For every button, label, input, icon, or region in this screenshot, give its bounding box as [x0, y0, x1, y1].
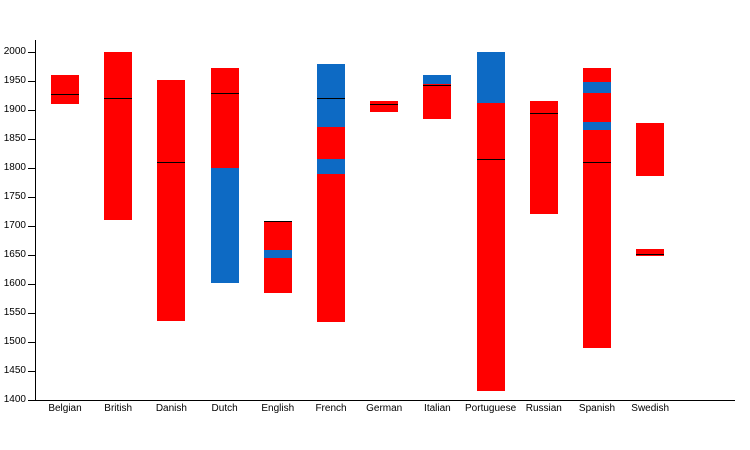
bar-segment[interactable] — [317, 127, 345, 159]
bar-segment[interactable] — [636, 123, 664, 175]
bar-group-french[interactable] — [317, 0, 345, 450]
bar-group-italian[interactable] — [423, 0, 451, 450]
bar-median-line — [636, 254, 664, 255]
bar-median-line — [51, 94, 79, 95]
y-axis-tick-label: 1600 — [0, 279, 26, 289]
bar-median-line — [583, 162, 611, 163]
bar-median-line — [370, 104, 398, 105]
y-axis-tick — [28, 400, 36, 401]
bar-segment[interactable] — [477, 103, 505, 391]
bar-group-portuguese[interactable] — [477, 0, 505, 450]
bar-segment[interactable] — [317, 174, 345, 322]
bar-segment[interactable] — [583, 68, 611, 83]
bar-group-spanish[interactable] — [583, 0, 611, 450]
bar-segment[interactable] — [583, 122, 611, 131]
bar-segment[interactable] — [317, 64, 345, 128]
y-axis-tick-label: 1650 — [0, 250, 26, 260]
bar-group-danish[interactable] — [157, 0, 185, 450]
y-axis-tick-label: 1400 — [0, 395, 26, 405]
bar-median-line — [157, 162, 185, 163]
bar-segment[interactable] — [583, 82, 611, 92]
bar-segment[interactable] — [423, 75, 451, 84]
bar-group-russian[interactable] — [530, 0, 558, 450]
bar-median-line — [104, 98, 132, 99]
bar-group-english[interactable] — [264, 0, 292, 450]
bar-median-line — [211, 93, 239, 94]
bar-segment[interactable] — [264, 221, 292, 250]
bar-group-swedish[interactable] — [636, 0, 664, 450]
y-axis-tick-label: 2000 — [0, 47, 26, 57]
bar-median-line — [530, 113, 558, 114]
y-axis-tick-label: 1850 — [0, 134, 26, 144]
y-axis-tick-label: 1900 — [0, 105, 26, 115]
bar-segment[interactable] — [264, 250, 292, 258]
bar-segment[interactable] — [211, 68, 239, 168]
y-axis-tick-label: 1550 — [0, 308, 26, 318]
bar-median-line — [423, 85, 451, 86]
bar-segment[interactable] — [636, 249, 664, 256]
bar-segment[interactable] — [104, 52, 132, 220]
bar-segment[interactable] — [530, 101, 558, 214]
bar-group-belgian[interactable] — [51, 0, 79, 450]
bar-group-german[interactable] — [370, 0, 398, 450]
bar-segment[interactable] — [370, 101, 398, 111]
y-axis-tick-label: 1800 — [0, 163, 26, 173]
y-axis-tick-label: 1750 — [0, 192, 26, 202]
chart-root: 1400145015001550160016501700175018001850… — [0, 0, 750, 450]
bar-median-line — [477, 159, 505, 160]
bar-segment[interactable] — [51, 75, 79, 104]
bar-segment[interactable] — [423, 84, 451, 119]
y-axis-tick-label: 1500 — [0, 337, 26, 347]
bar-segment[interactable] — [211, 168, 239, 283]
y-axis-tick-label: 1450 — [0, 366, 26, 376]
bar-segment[interactable] — [264, 258, 292, 293]
bar-segment[interactable] — [157, 80, 185, 321]
bar-segment[interactable] — [317, 159, 345, 174]
bar-group-dutch[interactable] — [211, 0, 239, 450]
bar-group-british[interactable] — [104, 0, 132, 450]
bar-median-line — [264, 221, 292, 222]
y-axis-tick-label: 1700 — [0, 221, 26, 231]
y-axis-tick-label: 1950 — [0, 76, 26, 86]
bar-segment[interactable] — [477, 52, 505, 103]
bar-segment[interactable] — [583, 93, 611, 122]
bar-median-line — [317, 98, 345, 99]
